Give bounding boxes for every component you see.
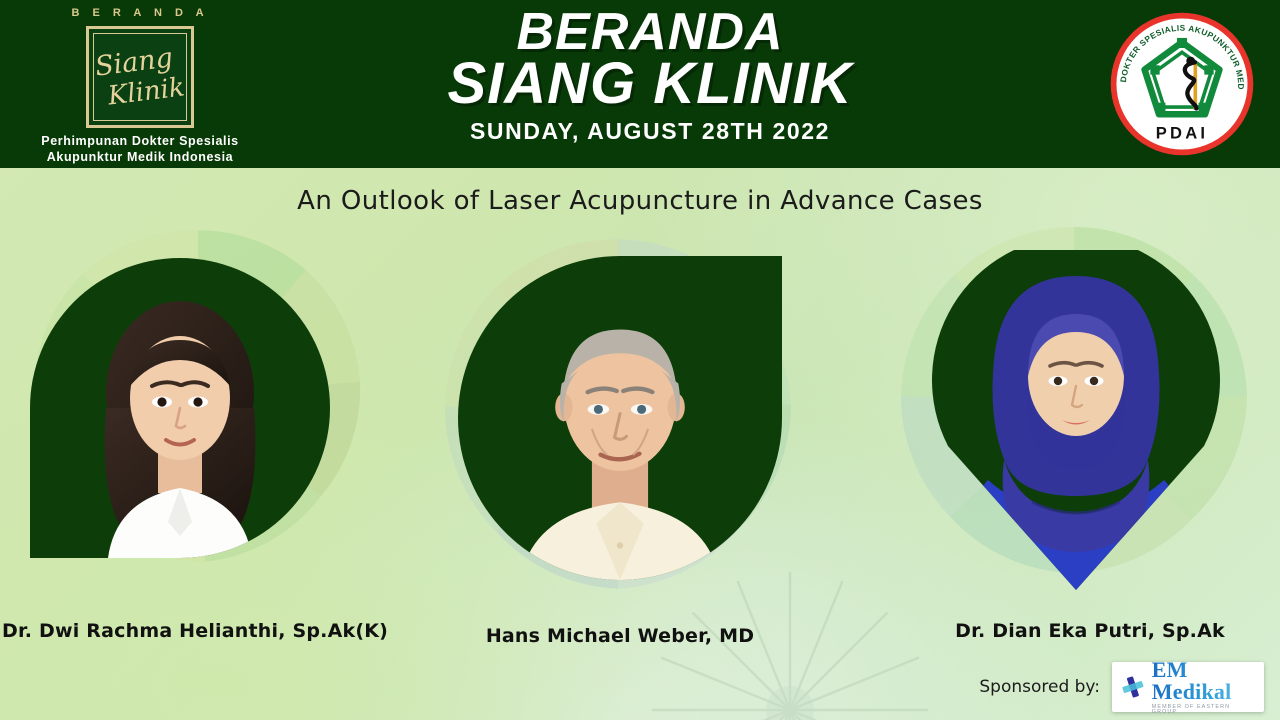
event-date: SUNDAY, AUGUST 28TH 2022 [300,118,1000,145]
pdai-logo-svg: PERHIMPUNAN DOKTER SPESIALIS AKUPUNKTUR … [1110,12,1254,156]
em-medikal-text: EM Medikal MEMBER OF EASTERN GROUP [1152,659,1256,716]
em-medikal-tagline: MEMBER OF EASTERN GROUP [1152,705,1256,716]
pdai-logo: PERHIMPUNAN DOKTER SPESIALIS AKUPUNKTUR … [1110,12,1254,156]
beranda-brand-logo: B E R A N D A Siang Klinik Perhimpunan D… [0,0,280,168]
session-subtitle: An Outlook of Laser Acupuncture in Advan… [0,186,1280,216]
medical-cross-icon [1120,672,1146,702]
brand-org-name: Perhimpunan Dokter Spesialis Akupunktur … [0,134,280,165]
brand-top-text: B E R A N D A [0,7,280,19]
brand-logo-box: Siang Klinik [86,26,194,128]
brand-org-line2: Akupunktur Medik Indonesia [0,150,280,166]
speaker-card-0 [30,258,330,558]
brand-logo-box-inner: Siang Klinik [93,33,187,121]
speaker-card-2 [932,250,1220,590]
speaker-name-1: Hans Michael Weber, MD [400,625,840,647]
pdai-acronym: PDAI [1156,124,1209,143]
event-title-block: BERANDA SIANG KLINIK SUNDAY, AUGUST 28TH… [300,8,1000,145]
brand-script-text: Siang Klinik [94,34,186,120]
speaker-photo-frame-2 [932,250,1220,590]
header-bar: B E R A N D A Siang Klinik Perhimpunan D… [0,0,1280,168]
sponsor-block: Sponsored by: EM Medikal MEMBER OF EASTE… [979,662,1264,712]
speaker-photo-frame-1 [458,256,782,580]
poster-canvas: B E R A N D A Siang Klinik Perhimpunan D… [0,0,1280,720]
speaker-photo-frame-0 [30,258,330,558]
em-medikal-name: EM Medikal [1152,659,1256,703]
speaker-name-0: Dr. Dwi Rachma Helianthi, Sp.Ak(K) [0,620,390,642]
event-title-line1: BERANDA [300,8,1000,57]
em-medikal-logo[interactable]: EM Medikal MEMBER OF EASTERN GROUP [1112,662,1264,712]
speaker-name-2: Dr. Dian Eka Putri, Sp.Ak [880,620,1280,642]
sponsored-by-label: Sponsored by: [979,677,1100,697]
speaker-card-1 [458,256,782,580]
speaker-photo-0 [105,301,256,558]
brand-org-line1: Perhimpunan Dokter Spesialis [0,134,280,150]
event-title-line2: SIANG KLINIK [300,57,1000,112]
